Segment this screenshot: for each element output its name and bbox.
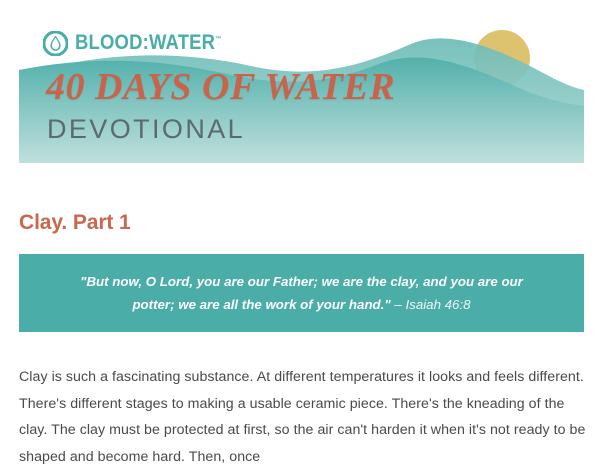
logo-wordmark-text: BLOOD:WATER bbox=[75, 30, 215, 54]
trademark-symbol: ™ bbox=[215, 36, 221, 43]
page-title: Clay. Part 1 bbox=[19, 210, 131, 235]
brand-logo[interactable]: BLOOD:WATER™ bbox=[43, 29, 245, 57]
article-body-text: Clay is such a fascinating substance. At… bbox=[19, 364, 588, 470]
scripture-quote-citation: – Isaiah 46:8 bbox=[394, 297, 470, 312]
banner-title: 40 DAYS OF WATER bbox=[46, 68, 395, 106]
water-drop-icon bbox=[43, 31, 68, 56]
banner-subtitle: DEVOTIONAL bbox=[47, 116, 245, 143]
scripture-quote-block: "But now, O Lord, you are our Father; we… bbox=[19, 254, 584, 332]
logo-wordmark: BLOOD:WATER™ bbox=[75, 32, 221, 54]
devotional-page: BLOOD:WATER™ 40 DAYS OF WATER DEVOTIONAL… bbox=[0, 0, 607, 455]
header-banner: BLOOD:WATER™ 40 DAYS OF WATER DEVOTIONAL bbox=[19, 18, 584, 163]
scripture-quote-inner: "But now, O Lord, you are our Father; we… bbox=[59, 270, 545, 317]
